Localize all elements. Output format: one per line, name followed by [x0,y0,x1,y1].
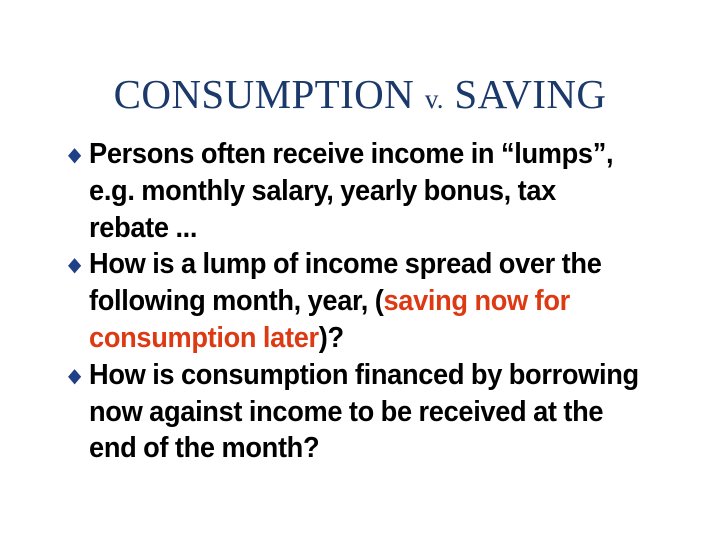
bullet-item-financed: ◆ How is consumption financed by borrowi… [68,357,641,467]
slide-title: CONSUMPTION v. SAVING [0,71,720,122]
bullet-item-lumps: ◆ Persons often receive income in “lumps… [68,136,641,246]
bullet-item-spread: ◆ How is a lump of income spread over th… [68,246,641,356]
bullet-text-lumps: Persons often receive income in “lumps”,… [89,136,641,246]
diamond-bullet-icon: ◆ [68,357,81,394]
bullet-segment-plain-tail: )? [319,322,344,354]
bullet-segment-plain: Persons often receive income in “lumps”,… [89,138,613,244]
slide-title-part-2: SAVING [444,71,607,117]
slide-canvas: CONSUMPTION v. SAVING ◆ Persons often re… [0,0,720,540]
diamond-bullet-icon: ◆ [68,246,81,283]
slide-title-part-1: CONSUMPTION [114,71,425,117]
bullet-text-financed: How is consumption financed by borrowing… [89,357,641,467]
bullet-segment-plain: How is consumption financed by borrowing… [89,359,639,465]
slide-title-versus: v. [425,84,444,114]
bullet-text-spread: How is a lump of income spread over the … [89,246,641,356]
diamond-bullet-icon: ◆ [68,136,81,173]
slide-body: ◆ Persons often receive income in “lumps… [68,136,668,467]
